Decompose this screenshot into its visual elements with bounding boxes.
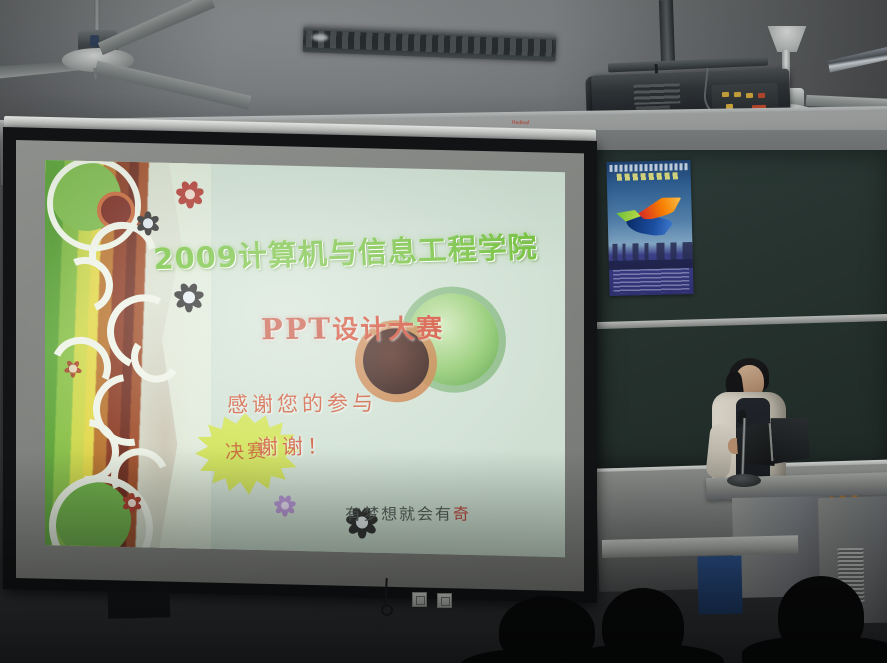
poster-subtitle-text — [617, 172, 679, 181]
microphone-base — [727, 474, 761, 487]
slide-footer-highlight: 奇 — [453, 504, 472, 523]
slide-flower-icon — [273, 493, 297, 518]
slide-flower-icon — [121, 492, 143, 515]
light-glint — [312, 34, 328, 42]
ceiling-fan-downrod — [94, 0, 100, 32]
slide-flower-icon — [173, 281, 205, 314]
presenter-folder — [735, 416, 810, 469]
poster-skyline — [608, 242, 693, 270]
wall-recess — [108, 591, 171, 619]
projector-port — [758, 93, 765, 98]
slide-subtitle: PPT设计大赛 — [260, 308, 444, 347]
slide-flower-icon — [135, 210, 161, 237]
poster-header-text — [609, 163, 687, 172]
projector-mount-pole — [659, 0, 675, 66]
wall-outlet — [437, 593, 452, 608]
projected-slide: 决赛 2009计算机与信息工程学院 PPT设计大赛 感谢您的参与 谢谢！ 有梦想… — [45, 160, 565, 557]
poster-body-text — [613, 268, 690, 294]
projector-vent — [634, 83, 681, 105]
classroom-photo: Redleaf — [0, 0, 887, 663]
audience-shoulders — [742, 636, 887, 663]
slide-flower-icon — [175, 179, 205, 210]
slide-thanks-line-1: 感谢您的参与 — [227, 387, 378, 419]
slide-subtitle-latin: PPT — [260, 311, 332, 346]
slide-footer: 有梦想就会有奇 — [345, 500, 472, 524]
folder-right-cover — [770, 416, 810, 464]
slide-subtitle-cn: 设计大赛 — [332, 314, 445, 345]
slide-footer-text: 有梦想就会有 — [345, 504, 453, 523]
screen-brand-label: Redleaf — [512, 120, 529, 126]
slide-thanks-line-2: 谢谢！ — [256, 430, 332, 461]
slide-title: 2009计算机与信息工程学院 — [152, 223, 565, 279]
slide-flower-icon — [63, 358, 83, 378]
expo-poster — [606, 160, 693, 296]
wall-outlet — [412, 592, 427, 607]
front-desk-blue-panel — [697, 556, 742, 615]
